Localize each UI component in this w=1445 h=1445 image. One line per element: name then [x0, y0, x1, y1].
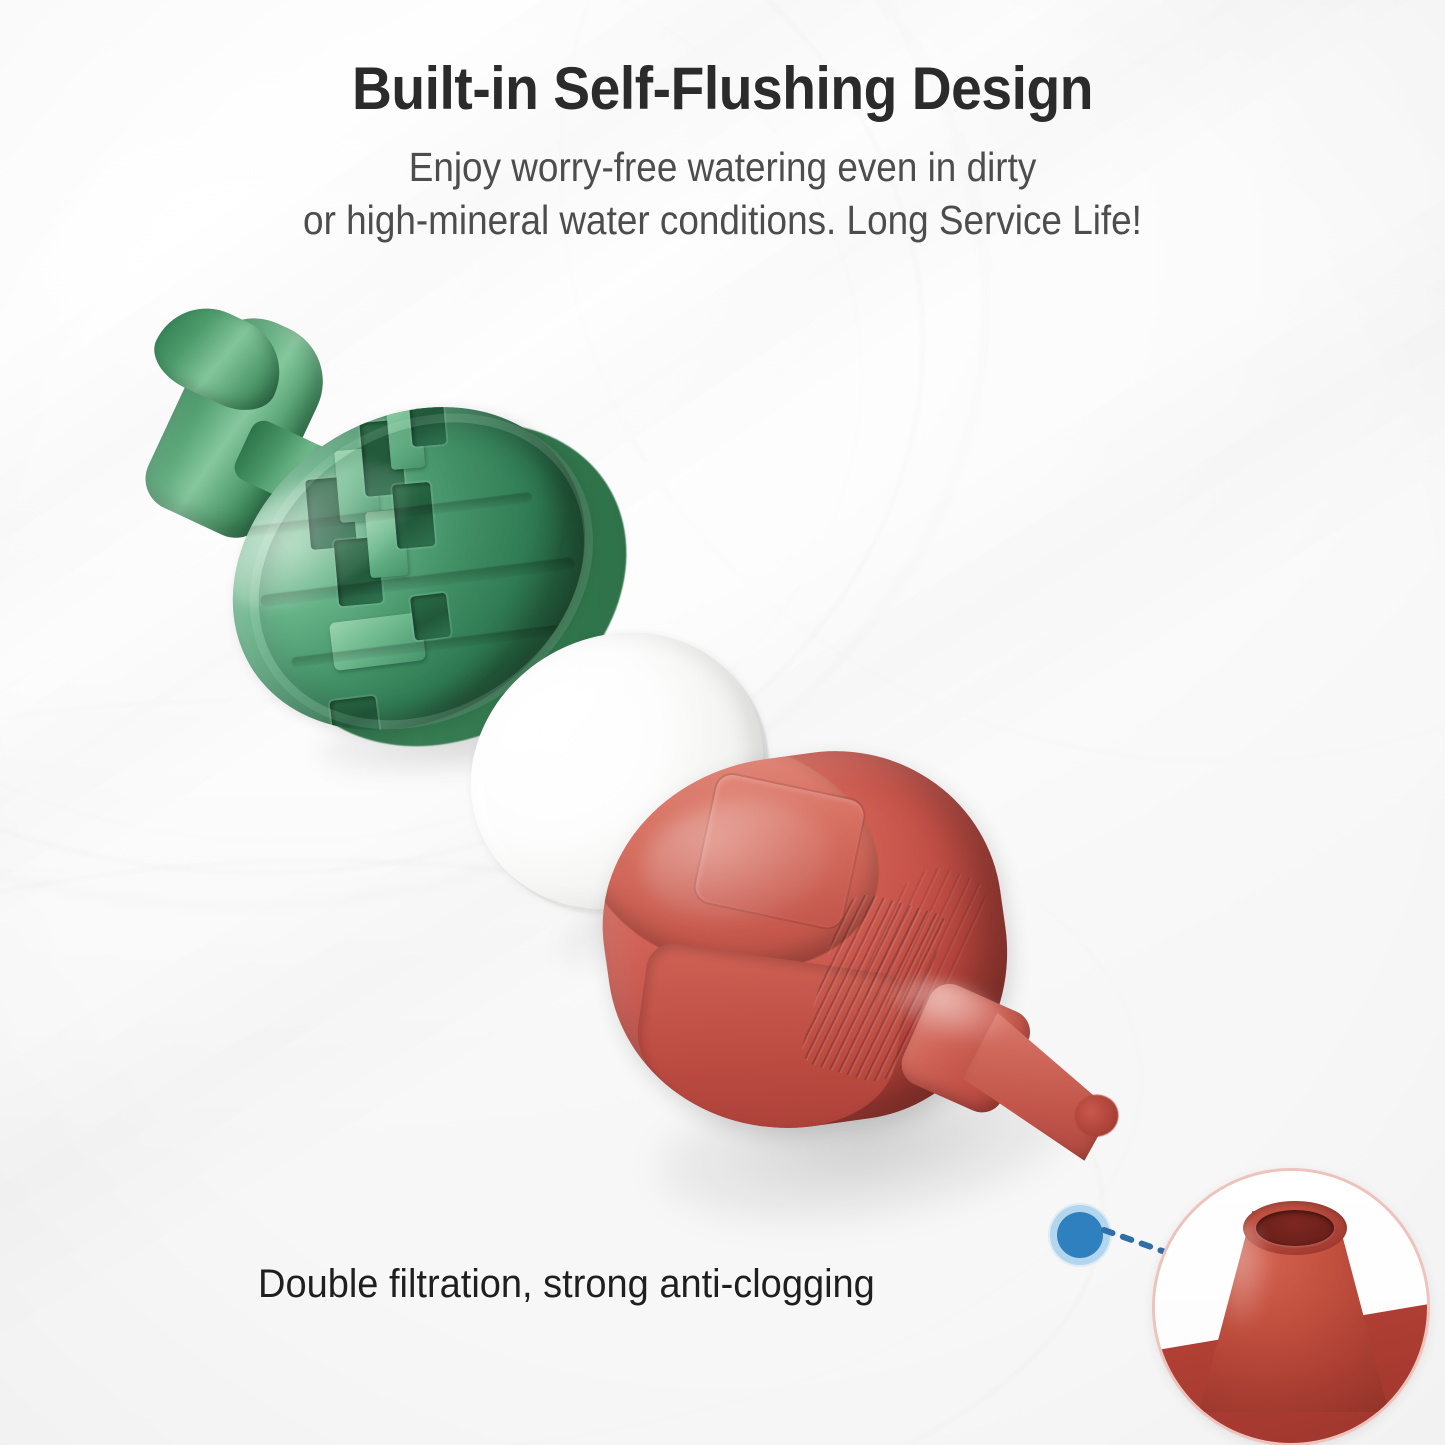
product-feature-panel: Built-in Self-Flushing Design Enjoy worr…	[0, 0, 1445, 1445]
feature-caption: Double filtration, strong anti-clogging	[258, 1262, 875, 1307]
subtitle-line-1: Enjoy worry-free watering even in dirty	[72, 141, 1373, 194]
outlet-orifice-callout-dot	[1057, 1212, 1103, 1258]
nozzle-tip-magnifier	[1152, 1168, 1430, 1445]
magnifier-highlight	[1213, 1223, 1273, 1333]
red-emitter-body	[570, 699, 1200, 1312]
page-subtitle: Enjoy worry-free watering even in dirty …	[72, 141, 1373, 248]
magnifier-outlet-hole	[1256, 1210, 1334, 1246]
subtitle-line-2: or high-mineral water conditions. Long S…	[72, 194, 1373, 247]
page-title: Built-in Self-Flushing Design	[58, 54, 1387, 123]
